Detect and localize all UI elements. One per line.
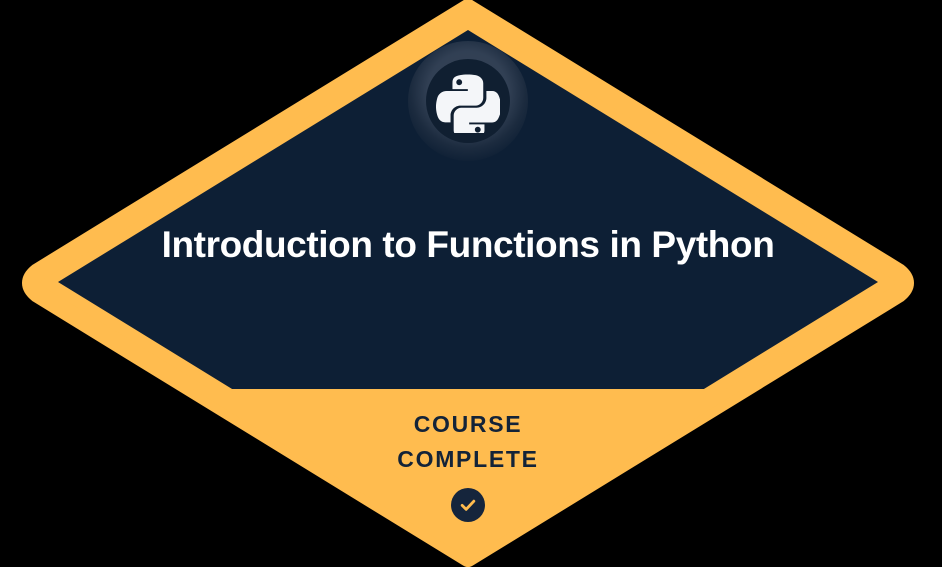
check-circle-icon [451,488,485,522]
check-mark-icon [458,495,478,515]
badge-shape [0,0,942,567]
badge-lower-band [0,389,942,567]
course-completion-badge: Introduction to Functions in Python COUR… [0,0,942,567]
